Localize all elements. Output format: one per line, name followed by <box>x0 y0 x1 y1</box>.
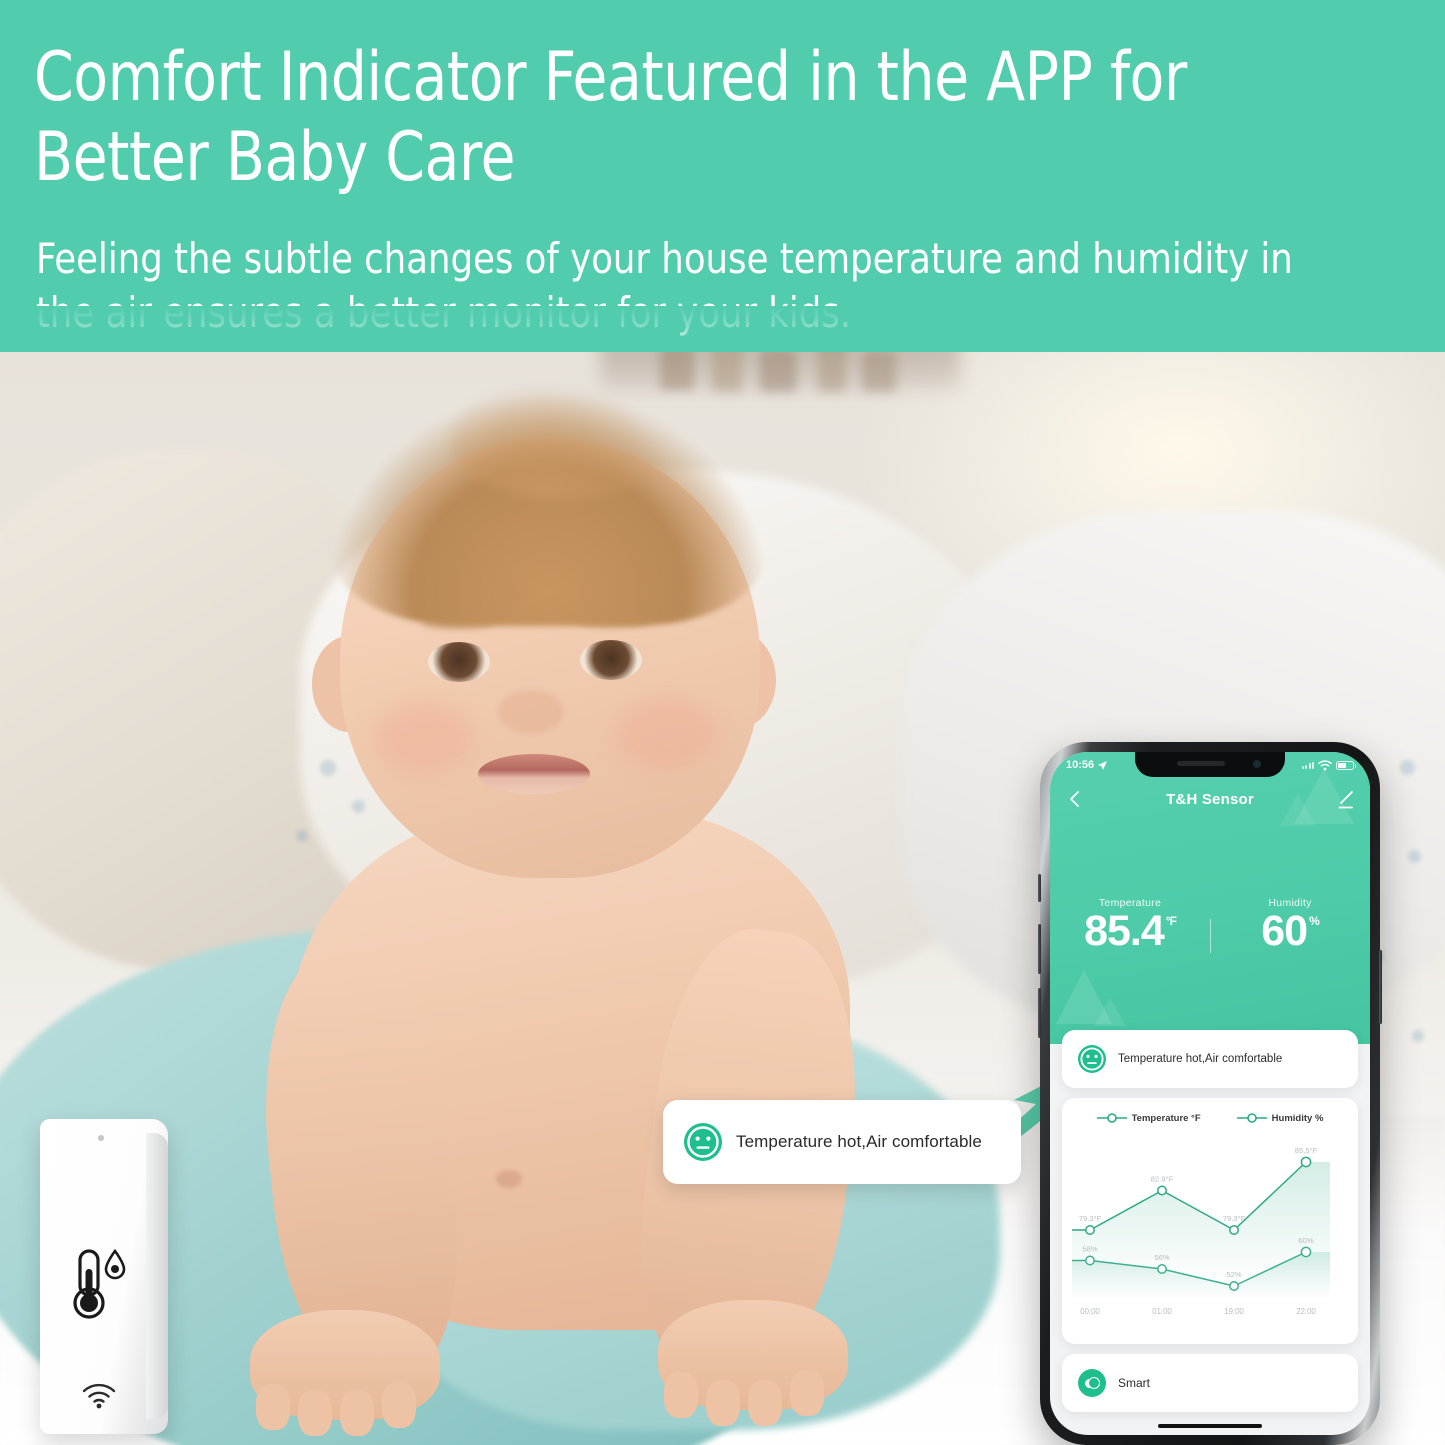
baby-cheek <box>374 702 474 774</box>
page-title: T&H Sensor <box>1166 791 1254 808</box>
location-arrow-icon <box>1097 760 1108 771</box>
baby-eye <box>428 642 490 682</box>
promo-banner: Comfort Indicator Featured in the APP fo… <box>0 0 1445 352</box>
legend-label-temperature: Temperature °F <box>1132 1113 1201 1124</box>
water-drop-icon <box>106 1251 124 1278</box>
legend-label-humidity: Humidity % <box>1272 1113 1324 1124</box>
legend-item-temperature[interactable]: Temperature °F <box>1097 1112 1201 1124</box>
baby-photo-subject <box>250 390 1010 1400</box>
svg-text:79.3°F: 79.3°F <box>1079 1214 1102 1223</box>
status-bar-time: 10:56 <box>1066 759 1094 771</box>
neutral-face-icon <box>1078 1045 1106 1073</box>
smartphone-mockup: 10:56 <box>1040 742 1380 1445</box>
pencil-edit-icon[interactable] <box>1334 789 1356 811</box>
baby-cheek <box>616 698 716 770</box>
baby-nose <box>498 690 564 734</box>
callout-text: Temperature hot,Air comfortable <box>736 1132 982 1152</box>
volume-down-button[interactable] <box>1038 988 1041 1038</box>
earpiece-speaker <box>1177 761 1225 766</box>
device-led-indicator <box>98 1135 104 1141</box>
temperature-value: 85.4 <box>1084 910 1164 953</box>
history-chart-card[interactable]: Temperature °F Humidity % 79.3°F82.9°F79… <box>1062 1098 1358 1344</box>
comfort-indicator-callout: Temperature hot,Air comfortable <box>663 1100 1021 1184</box>
wifi-icon <box>80 1381 118 1409</box>
svg-text:60%: 60% <box>1298 1236 1313 1245</box>
device-side-panel <box>146 1133 168 1419</box>
front-camera <box>1253 760 1261 768</box>
svg-text:01:00: 01:00 <box>1152 1307 1172 1316</box>
shelf-jar <box>862 350 896 392</box>
comfort-indicator-text: Temperature hot,Air comfortable <box>1118 1053 1282 1065</box>
svg-text:58%: 58% <box>1082 1245 1097 1254</box>
volume-up-button[interactable] <box>1038 924 1041 974</box>
svg-text:56%: 56% <box>1154 1253 1169 1262</box>
humidity-value: 60 <box>1261 910 1307 953</box>
power-button[interactable] <box>1379 950 1382 1024</box>
sensor-readings: Temperature 85.4 °F Humidity 60 % <box>1050 897 1370 953</box>
toggle-switch-icon <box>1078 1369 1106 1397</box>
phone-notch <box>1135 752 1285 777</box>
banner-gradient-fade <box>0 306 1445 352</box>
temperature-reading: Temperature 85.4 °F <box>1050 897 1210 953</box>
baby-hair-tuft <box>450 380 680 500</box>
fabric-dot <box>1412 1030 1424 1042</box>
fabric-dot <box>1400 760 1415 775</box>
svg-text:19:00: 19:00 <box>1224 1307 1244 1316</box>
baby-navel <box>496 1170 522 1188</box>
temperature-humidity-line-chart: 79.3°F82.9°F79.3°F85.5°F58%56%52%60%00:0… <box>1072 1134 1348 1322</box>
baby-eye <box>580 640 642 680</box>
svg-text:85.5°F: 85.5°F <box>1295 1146 1318 1155</box>
smart-row[interactable]: Smart <box>1062 1354 1358 1412</box>
shelf-jar <box>760 348 796 392</box>
baby-hand <box>658 1300 848 1410</box>
temperature-unit: °F <box>1166 915 1176 927</box>
legend-item-humidity[interactable]: Humidity % <box>1237 1112 1324 1124</box>
phone-screen: 10:56 <box>1050 752 1370 1435</box>
legend-marker-icon <box>1237 1112 1267 1124</box>
wifi-icon <box>1318 760 1332 771</box>
chevron-left-icon[interactable] <box>1064 788 1086 810</box>
mute-switch[interactable] <box>1038 874 1041 902</box>
temperature-humidity-sensor-device <box>40 1119 168 1434</box>
humidity-unit: % <box>1309 915 1319 927</box>
svg-text:82.9°F: 82.9°F <box>1151 1175 1174 1184</box>
comfort-indicator-card[interactable]: Temperature hot,Air comfortable <box>1062 1030 1358 1088</box>
nav-bar: T&H Sensor <box>1050 782 1370 816</box>
legend-marker-icon <box>1097 1112 1127 1124</box>
product-marketing-image: Temperature hot,Air comfortable 10:56 <box>0 0 1445 1445</box>
neutral-face-icon <box>684 1123 722 1161</box>
svg-text:22:00: 22:00 <box>1296 1307 1316 1316</box>
smart-label: Smart <box>1118 1376 1150 1390</box>
humidity-reading: Humidity 60 % <box>1210 897 1370 953</box>
svg-text:00:00: 00:00 <box>1080 1307 1100 1316</box>
headline: Comfort Indicator Featured in the APP fo… <box>34 38 1280 198</box>
svg-text:52%: 52% <box>1226 1270 1241 1279</box>
signal-dots-icon <box>1302 761 1315 769</box>
fabric-dot <box>1408 850 1421 863</box>
mountain-decoration <box>1094 998 1126 1026</box>
home-indicator[interactable] <box>1158 1424 1262 1428</box>
thermometer-icon <box>68 1245 130 1325</box>
baby-hand <box>250 1310 440 1420</box>
baby-mouth <box>478 754 590 794</box>
chart-legend: Temperature °F Humidity % <box>1072 1112 1348 1124</box>
battery-icon <box>1336 761 1354 770</box>
svg-text:79.3°F: 79.3°F <box>1223 1214 1246 1223</box>
